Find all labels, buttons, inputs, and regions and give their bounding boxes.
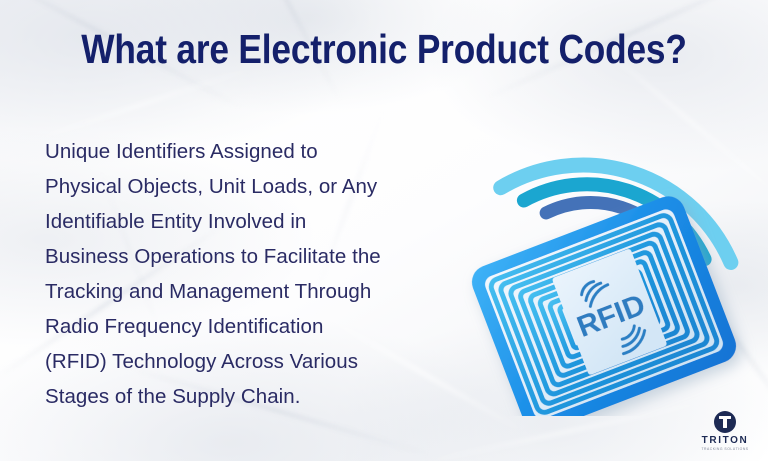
- logo-wordmark: TRITON: [696, 436, 754, 446]
- body-line: Stages of the Supply Chain.: [45, 379, 445, 414]
- triton-trident-icon: [714, 411, 736, 433]
- page-title: What are Electronic Product Codes?: [54, 28, 714, 71]
- body-line: Identifiable Entity Involved in: [45, 204, 445, 239]
- body-line: Unique Identifiers Assigned to: [45, 134, 445, 169]
- body-line: Physical Objects, Unit Loads, or Any: [45, 169, 445, 204]
- body-paragraph: Unique Identifiers Assigned to Physical …: [45, 134, 445, 414]
- body-line: (RFID) Technology Across Various: [45, 344, 445, 379]
- body-line: Business Operations to Facilitate the: [45, 239, 445, 274]
- logo-tagline: TRACKING SOLUTIONS: [696, 448, 754, 451]
- brand-logo: TRITON TRACKING SOLUTIONS: [696, 411, 754, 451]
- body-line: Tracking and Management Through: [45, 274, 445, 309]
- body-line: Radio Frequency Identification: [45, 309, 445, 344]
- rfid-tag-illustration: RFID: [452, 96, 768, 416]
- poster-canvas: What are Electronic Product Codes? Uniqu…: [0, 0, 768, 461]
